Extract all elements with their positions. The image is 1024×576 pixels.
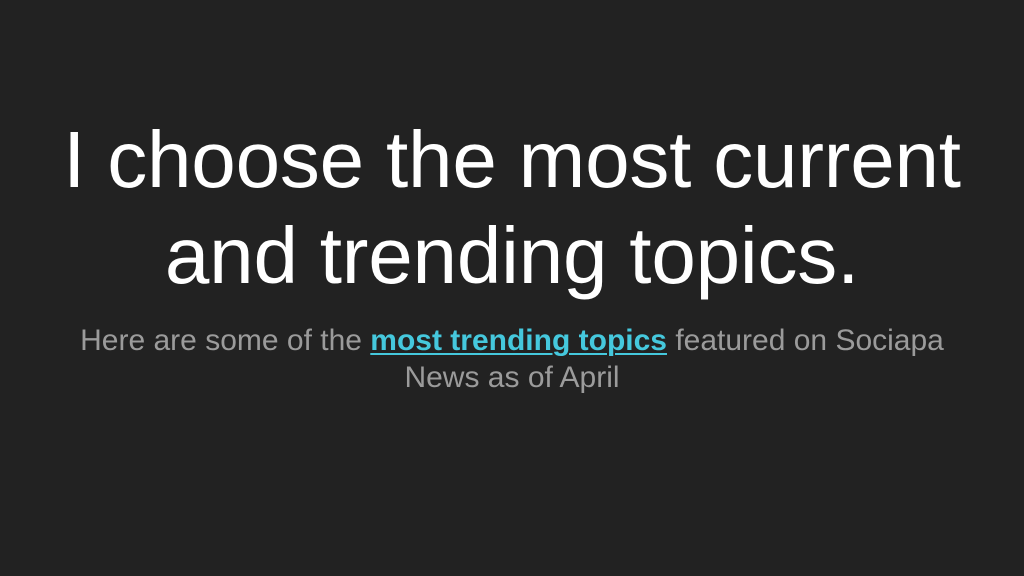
subtitle-lead-text: Here are some of the — [80, 324, 370, 357]
slide-content-block: I choose the most current and trending t… — [62, 112, 962, 396]
slide-canvas: I choose the most current and trending t… — [0, 0, 1024, 576]
slide-subtitle: Here are some of the most trending topic… — [62, 322, 962, 396]
page-title: I choose the most current and trending t… — [62, 112, 962, 304]
title-line-1: I choose the most current — [62, 112, 962, 208]
trending-topics-link[interactable]: most trending topics — [370, 324, 667, 357]
title-line-2: and trending topics. — [62, 208, 962, 304]
